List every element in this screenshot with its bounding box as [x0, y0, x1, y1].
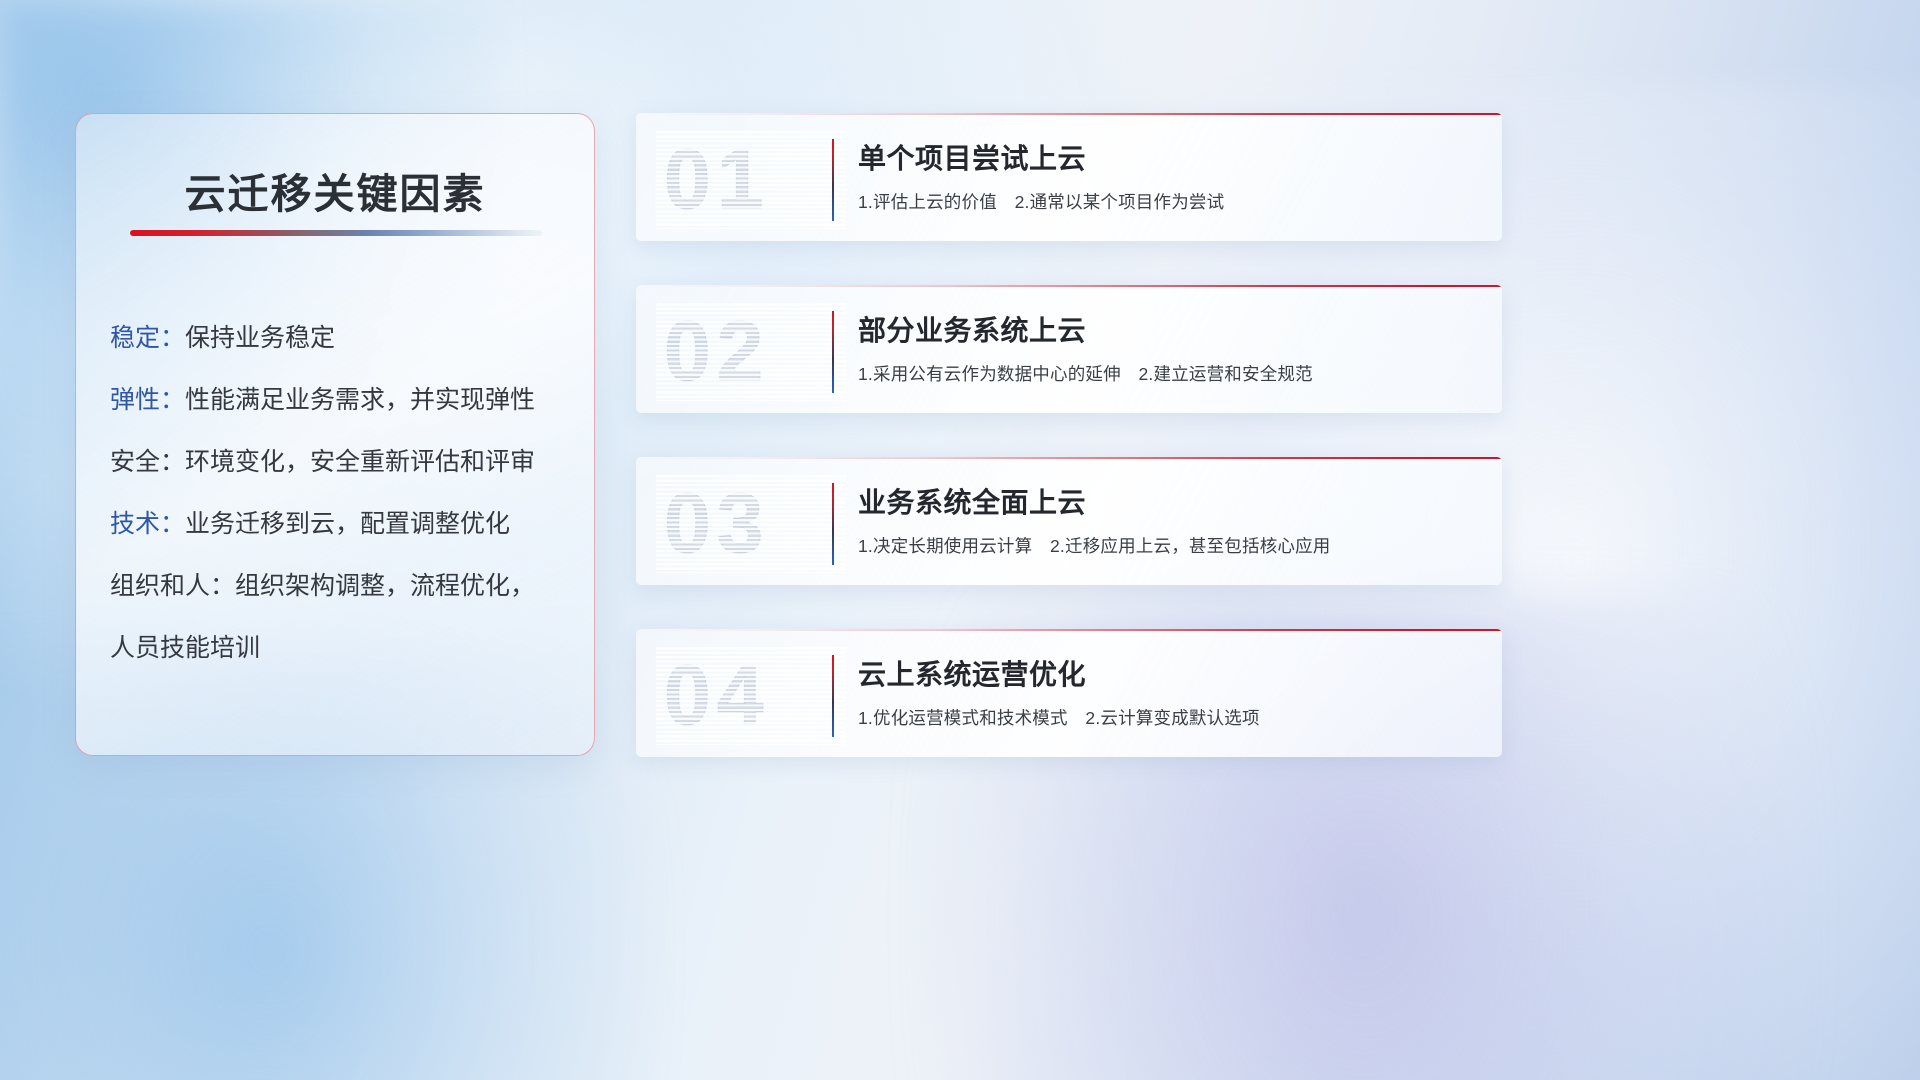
card-title: 部分业务系统上云: [858, 309, 1484, 349]
list-item-text: 环境变化，安全重新评估和评审: [185, 448, 535, 476]
card-accent-topline: [636, 285, 1502, 287]
card-title: 云上系统运营优化: [858, 653, 1484, 693]
card-number-stripe-overlay: [656, 129, 846, 229]
list-item-text: 性能满足业务需求，并实现弹性: [185, 386, 535, 414]
card-divider-line: [832, 655, 834, 737]
list-item: 弹性：性能满足业务需求，并实现弹性: [110, 369, 572, 431]
card-divider-line: [832, 483, 834, 565]
card-accent-topline: [636, 629, 1502, 631]
card-body: 云上系统运营优化 1.优化运营模式和技术模式 2.云计算变成默认选项: [858, 653, 1484, 730]
card-divider-line: [832, 311, 834, 393]
card-number-watermark: 02: [664, 305, 834, 397]
list-item-key: 安全：: [110, 448, 185, 476]
key-factors-panel: 云迁移关键因素 稳定：保持业务稳定 弹性：性能满足业务需求，并实现弹性 安全：环…: [75, 113, 595, 756]
list-item-key: 组织和人：: [110, 572, 235, 600]
card-subtitle: 1.决定长期使用云计算 2.迁移应用上云，甚至包括核心应用: [858, 533, 1484, 558]
stage-card-01[interactable]: 01 单个项目尝试上云 1.评估上云的价值 2.通常以某个项目作为尝试: [636, 113, 1502, 241]
card-title: 单个项目尝试上云: [858, 137, 1484, 177]
list-item: 人员技能培训: [110, 617, 572, 679]
key-factors-list: 稳定：保持业务稳定 弹性：性能满足业务需求，并实现弹性 安全：环境变化，安全重新…: [110, 307, 572, 679]
list-item-key: 技术：: [110, 510, 185, 538]
stage-cards-list: 01 单个项目尝试上云 1.评估上云的价值 2.通常以某个项目作为尝试 02 部…: [636, 113, 1502, 801]
list-item-text: 保持业务稳定: [185, 324, 335, 352]
stage-card-02[interactable]: 02 部分业务系统上云 1.采用公有云作为数据中心的延伸 2.建立运营和安全规范: [636, 285, 1502, 413]
list-item-text: 组织架构调整，流程优化，: [235, 572, 535, 600]
list-item-key: 稳定：: [110, 324, 185, 352]
card-subtitle: 1.评估上云的价值 2.通常以某个项目作为尝试: [858, 189, 1484, 214]
panel-title: 云迁移关键因素: [76, 160, 594, 220]
card-body: 单个项目尝试上云 1.评估上云的价值 2.通常以某个项目作为尝试: [858, 137, 1484, 214]
card-title: 业务系统全面上云: [858, 481, 1484, 521]
card-number-stripe-overlay: [656, 301, 846, 401]
list-item: 技术：业务迁移到云，配置调整优化: [110, 493, 572, 555]
list-item-key: 弹性：: [110, 386, 185, 414]
card-divider-line: [832, 139, 834, 221]
card-body: 部分业务系统上云 1.采用公有云作为数据中心的延伸 2.建立运营和安全规范: [858, 309, 1484, 386]
card-subtitle: 1.优化运营模式和技术模式 2.云计算变成默认选项: [858, 705, 1484, 730]
card-number-stripe-overlay: [656, 473, 846, 573]
list-item: 组织和人：组织架构调整，流程优化，: [110, 555, 572, 617]
card-number-stripe-overlay: [656, 645, 846, 745]
title-underline-rule: [130, 230, 542, 236]
list-item: 稳定：保持业务稳定: [110, 307, 572, 369]
list-item-text: 业务迁移到云，配置调整优化: [185, 510, 510, 538]
list-item-text: 人员技能培训: [110, 634, 260, 662]
card-body: 业务系统全面上云 1.决定长期使用云计算 2.迁移应用上云，甚至包括核心应用: [858, 481, 1484, 558]
card-number-watermark: 04: [664, 649, 834, 741]
card-accent-topline: [636, 457, 1502, 459]
stage-card-04[interactable]: 04 云上系统运营优化 1.优化运营模式和技术模式 2.云计算变成默认选项: [636, 629, 1502, 757]
card-accent-topline: [636, 113, 1502, 115]
stage-card-03[interactable]: 03 业务系统全面上云 1.决定长期使用云计算 2.迁移应用上云，甚至包括核心应…: [636, 457, 1502, 585]
card-number-watermark: 03: [664, 477, 834, 569]
card-subtitle: 1.采用公有云作为数据中心的延伸 2.建立运营和安全规范: [858, 361, 1484, 386]
card-number-watermark: 01: [664, 133, 834, 225]
list-item: 安全：环境变化，安全重新评估和评审: [110, 431, 572, 493]
